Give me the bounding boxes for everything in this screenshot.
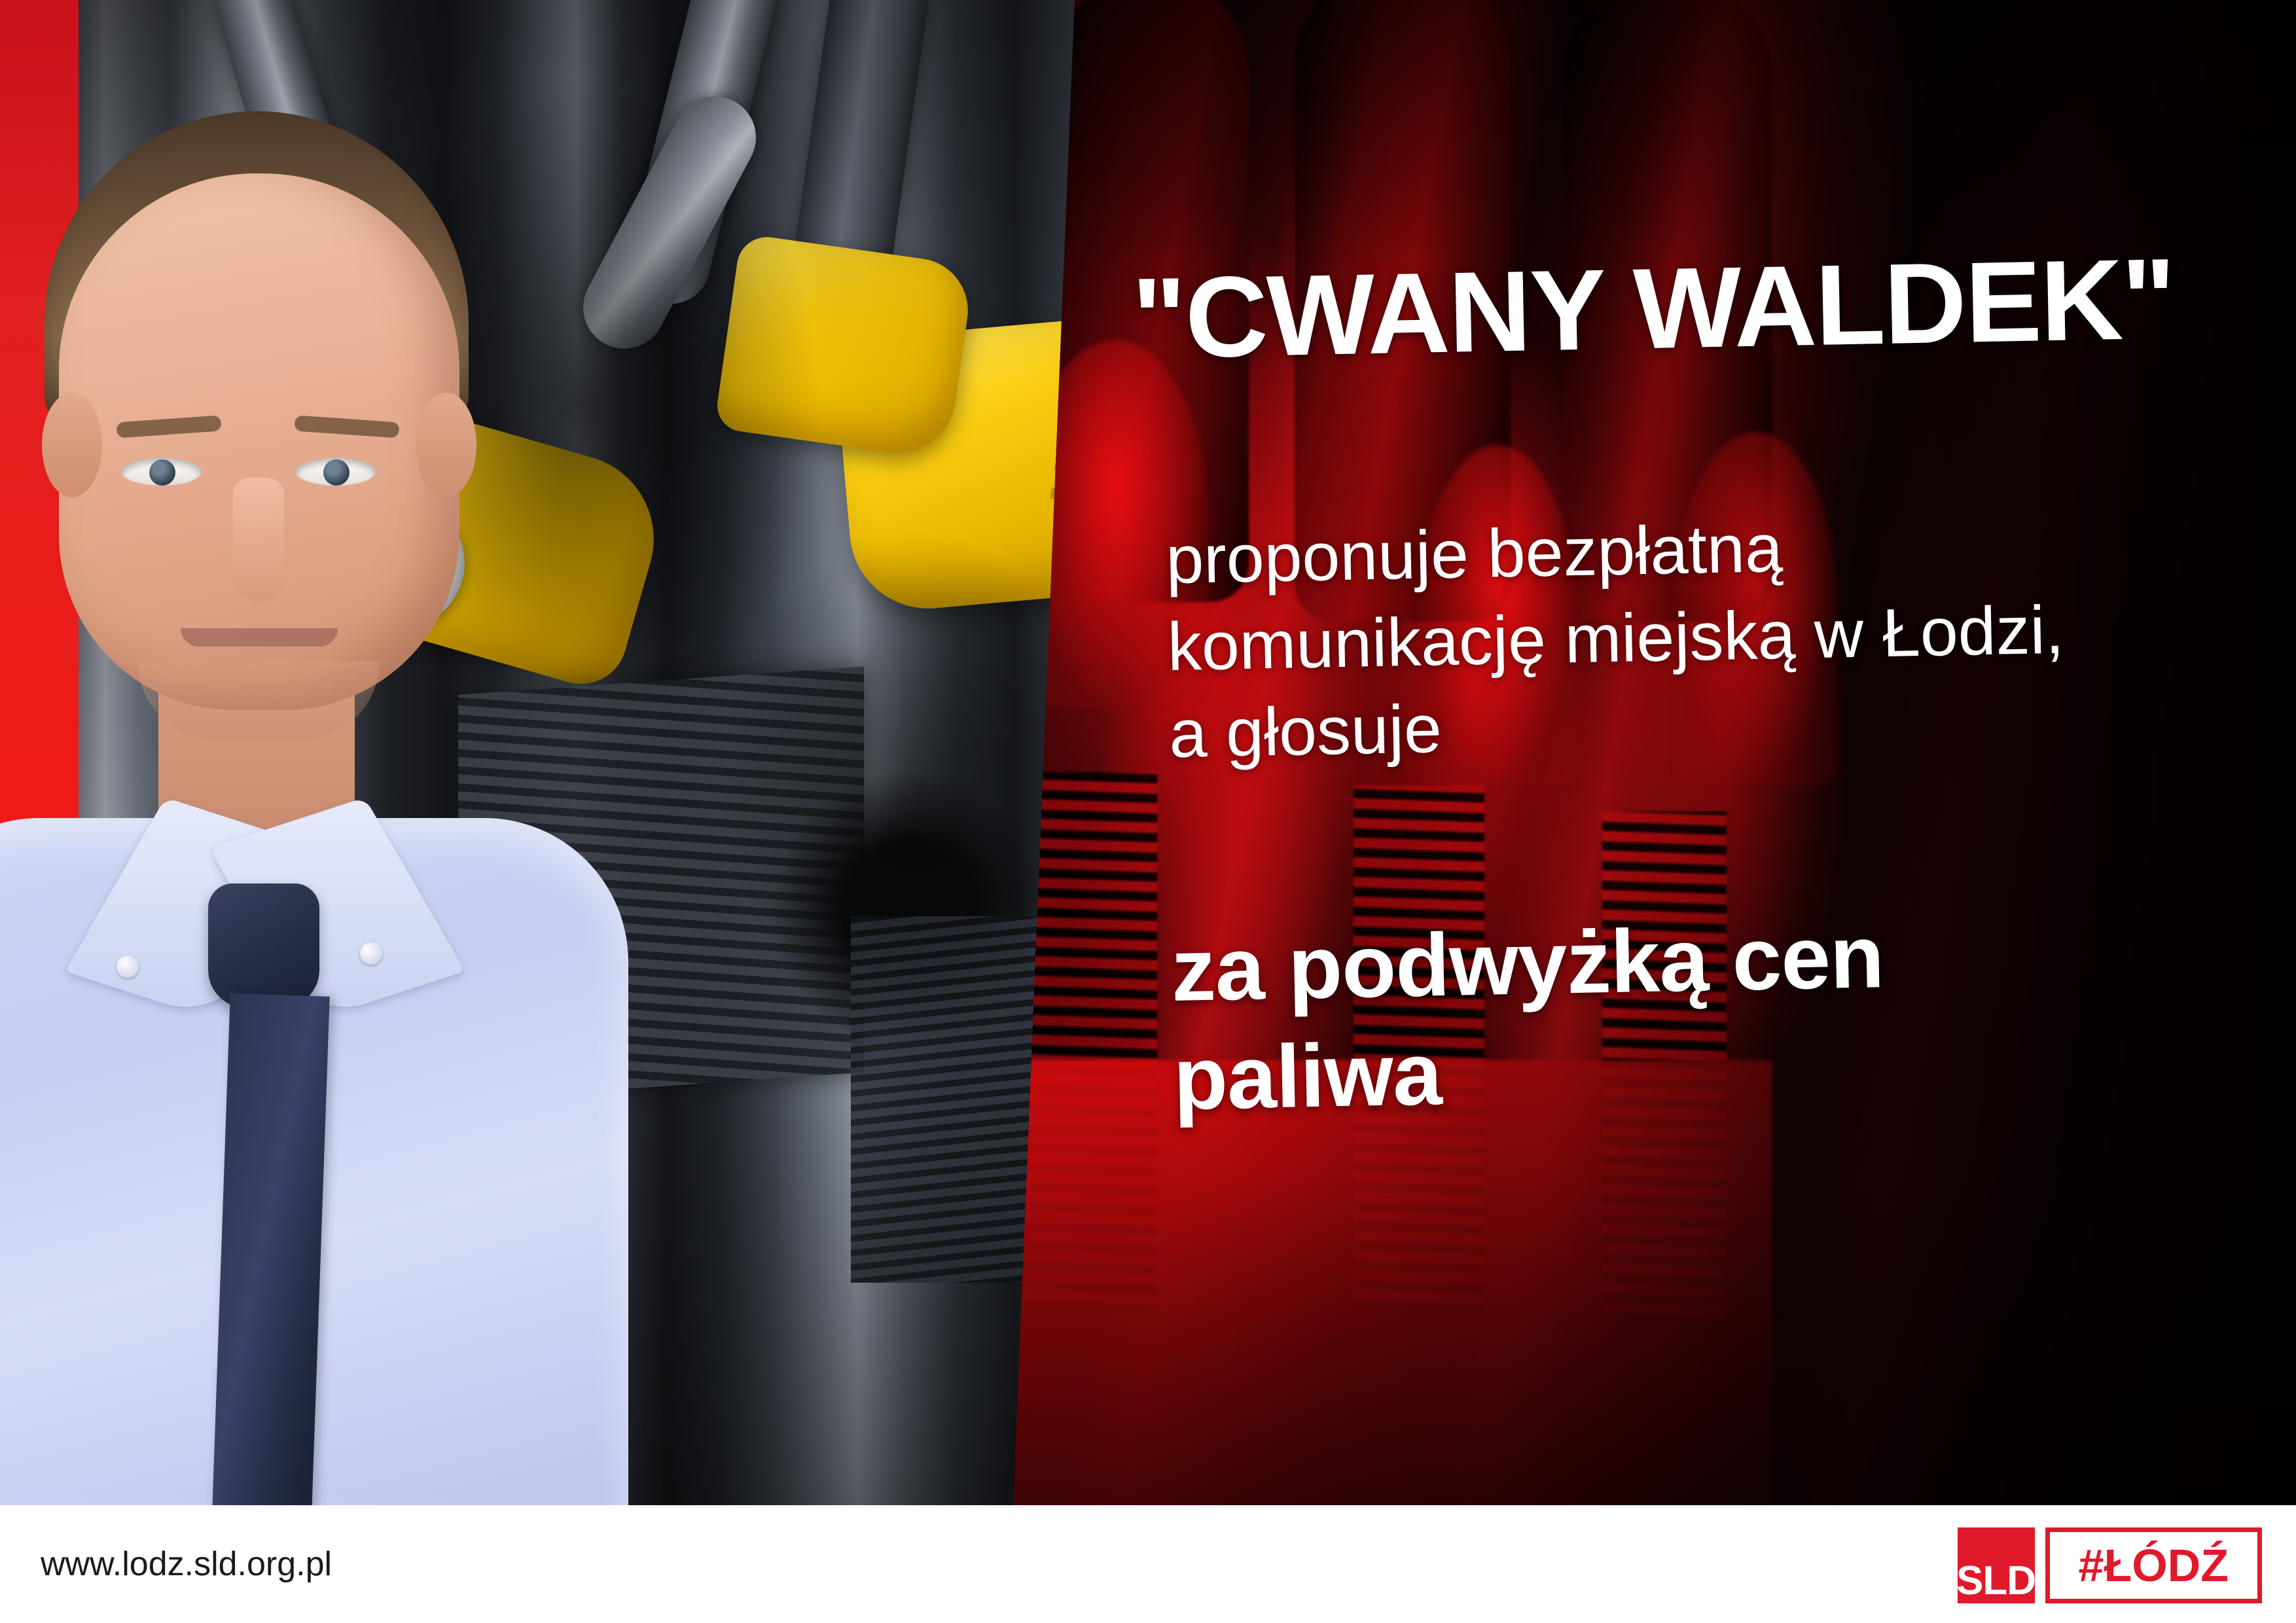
sld-logo-mark: SLD xyxy=(1958,1527,2035,1603)
shirt-button xyxy=(117,955,139,978)
ear-right xyxy=(416,393,476,497)
poster-headline: "CWANY WALDEK" xyxy=(1131,240,2285,376)
candidate-portrait xyxy=(0,111,563,1505)
pupil-right xyxy=(323,459,350,486)
website-url[interactable]: www.lodz.sld.org.pl xyxy=(41,1544,332,1584)
tie xyxy=(212,993,329,1505)
shirt-button xyxy=(360,942,382,965)
emphasis-line: paliwa xyxy=(1172,1003,2287,1133)
sld-lodz-logo[interactable]: SLD #ŁÓDŹ xyxy=(1958,1527,2262,1603)
poster-body-text: proponuje bezpłatną komunikację miejską … xyxy=(1165,495,2295,778)
emphasis-line: za podwyżką cen xyxy=(1170,895,2285,1025)
left-photo-panel: N N N N Diesel xyxy=(0,0,1152,1505)
poster-text-layer: "CWANY WALDEK" proponuje bezpłatną komun… xyxy=(1113,0,2296,1505)
nose xyxy=(233,478,284,602)
footer-bar: www.lodz.sld.org.pl SLD #ŁÓDŹ xyxy=(0,1505,2296,1623)
campaign-poster: N N N N Diesel xyxy=(0,0,2296,1623)
poster-emphasis-text: za podwyżką cen paliwa xyxy=(1170,895,2287,1133)
lodz-hashtag-logo: #ŁÓDŹ xyxy=(2045,1527,2262,1603)
tie-knot xyxy=(208,883,319,1008)
pupil-left xyxy=(149,459,175,486)
ear-left xyxy=(42,393,102,497)
mouth xyxy=(181,628,338,647)
